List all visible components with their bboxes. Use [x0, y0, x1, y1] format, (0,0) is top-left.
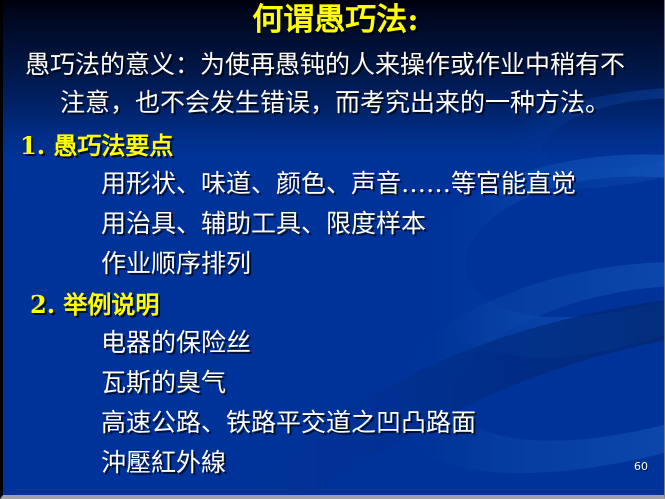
intro-paragraph: 愚巧法的意义：为使再愚钝的人来操作或作业中稍有不 注意，也不会发生错误，而考究出… [3, 46, 665, 122]
section-2-item-2: 瓦斯的臭气 [101, 366, 226, 400]
section-heading-2: 2. 举例说明 [30, 289, 159, 321]
section-1-item-2: 用治具、辅助工具、限度样本 [101, 207, 426, 241]
intro-line-2: 注意，也不会发生错误，而考究出来的一种方法。 [3, 84, 665, 122]
presentation-slide: 何谓愚巧法: 愚巧法的意义：为使再愚钝的人来操作或作业中稍有不 注意，也不会发生… [0, 0, 665, 499]
section-1-item-3: 作业顺序排列 [101, 247, 251, 281]
section-1-item-1: 用形状、味道、颜色、声音……等官能直觉 [101, 167, 576, 201]
page-title: 何谓愚巧法: [3, 1, 665, 39]
intro-line-1: 愚巧法的意义：为使再愚钝的人来操作或作业中稍有不 [3, 46, 665, 84]
section-2-item-3: 高速公路、铁路平交道之凹凸路面 [101, 406, 476, 440]
section-2-item-4: 沖壓紅外線 [101, 446, 226, 480]
slide-content: 何谓愚巧法: 愚巧法的意义：为使再愚钝的人来操作或作业中稍有不 注意，也不会发生… [3, 0, 664, 495]
slide-page-number: 60 [634, 460, 648, 473]
section-heading-1: 1. 愚巧法要点 [20, 130, 173, 162]
section-2-item-1: 电器的保险丝 [101, 326, 251, 360]
